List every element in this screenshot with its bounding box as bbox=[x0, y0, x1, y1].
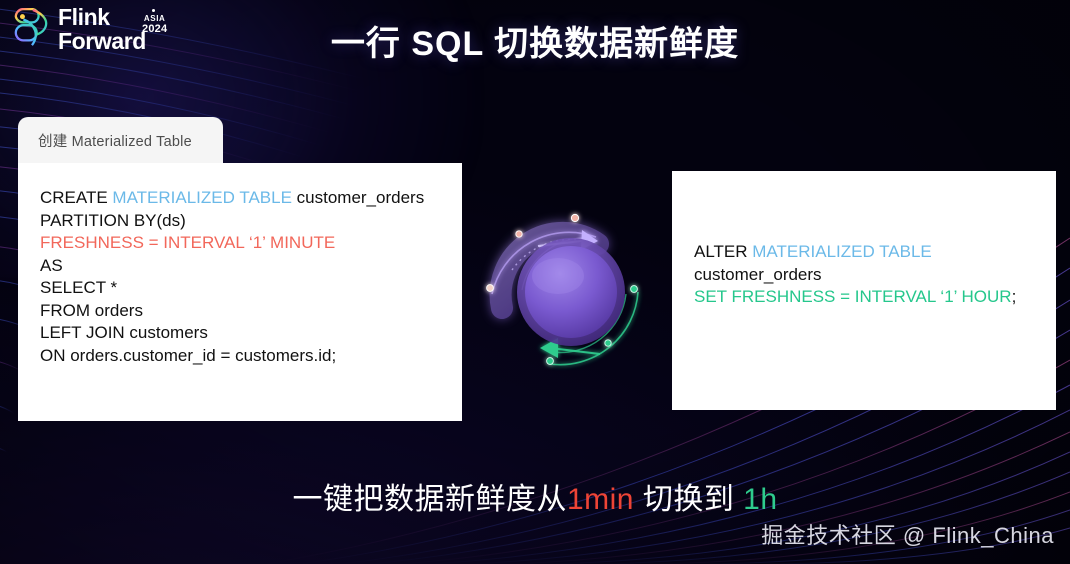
code-token: CREATE bbox=[40, 188, 112, 207]
code-token: customer_orders bbox=[694, 265, 822, 284]
code-token: AS bbox=[40, 256, 63, 275]
code-token: ; bbox=[1012, 287, 1017, 306]
code-line: SELECT * bbox=[40, 277, 462, 300]
caption-to-value: 1h bbox=[743, 483, 777, 516]
code-token: SELECT * bbox=[40, 278, 117, 297]
code-token: FROM orders bbox=[40, 301, 143, 320]
code-token: LEFT JOIN customers bbox=[40, 323, 208, 342]
code-line: PARTITION BY(ds) bbox=[40, 210, 462, 233]
code-token: PARTITION BY(ds) bbox=[40, 211, 186, 230]
code-line: SET FRESHNESS = INTERVAL ‘1’ HOUR; bbox=[694, 286, 1056, 309]
slide-caption: 一键把数据新鲜度从1min 切换到 1h bbox=[0, 474, 1070, 518]
watermark: 掘金技术社区 @ Flink_China bbox=[761, 518, 1054, 550]
code-token: MATERIALIZED TABLE bbox=[752, 242, 932, 261]
code-line: customer_orders bbox=[694, 264, 1056, 287]
code-token: MATERIALIZED TABLE bbox=[112, 188, 292, 207]
code-token: customer_orders bbox=[292, 188, 424, 207]
code-line: LEFT JOIN customers bbox=[40, 322, 462, 345]
badge-dot-icon bbox=[152, 9, 155, 12]
code-line: CREATE MATERIALIZED TABLE customer_order… bbox=[40, 187, 462, 210]
alter-sql-code: ALTER MATERIALIZED TABLEcustomer_ordersS… bbox=[694, 241, 1056, 309]
code-token: ON orders.customer_id = customers.id; bbox=[40, 346, 336, 365]
code-line: ALTER MATERIALIZED TABLE bbox=[694, 241, 1056, 264]
code-line: ON orders.customer_id = customers.id; bbox=[40, 345, 462, 368]
tab-label: 创建 Materialized Table bbox=[38, 134, 192, 150]
refresh-orbit-graphic bbox=[478, 198, 664, 384]
code-line: FROM orders bbox=[40, 300, 462, 323]
code-token: FRESHNESS = INTERVAL ‘1’ MINUTE bbox=[40, 233, 335, 252]
tab-create-materialized-table[interactable]: 创建 Materialized Table bbox=[18, 117, 223, 164]
alter-sql-panel: ALTER MATERIALIZED TABLEcustomer_ordersS… bbox=[672, 171, 1056, 410]
code-token: ALTER bbox=[694, 242, 752, 261]
caption-middle: 切换到 bbox=[634, 483, 743, 516]
code-token: SET FRESHNESS = INTERVAL ‘1’ HOUR bbox=[694, 287, 1012, 306]
create-sql-panel: CREATE MATERIALIZED TABLE customer_order… bbox=[18, 163, 462, 421]
caption-prefix: 一键把数据新鲜度从 bbox=[292, 483, 567, 516]
code-line: AS bbox=[40, 255, 462, 278]
caption-from-value: 1min bbox=[567, 483, 634, 516]
page-title: 一行 SQL 切换数据新鲜度 bbox=[0, 16, 1070, 65]
slide-root: Flink Forward ASIA 2024 一行 SQL 切换数据新鲜度 创… bbox=[0, 0, 1070, 564]
code-line: FRESHNESS = INTERVAL ‘1’ MINUTE bbox=[40, 232, 462, 255]
create-sql-code: CREATE MATERIALIZED TABLE customer_order… bbox=[40, 187, 462, 367]
